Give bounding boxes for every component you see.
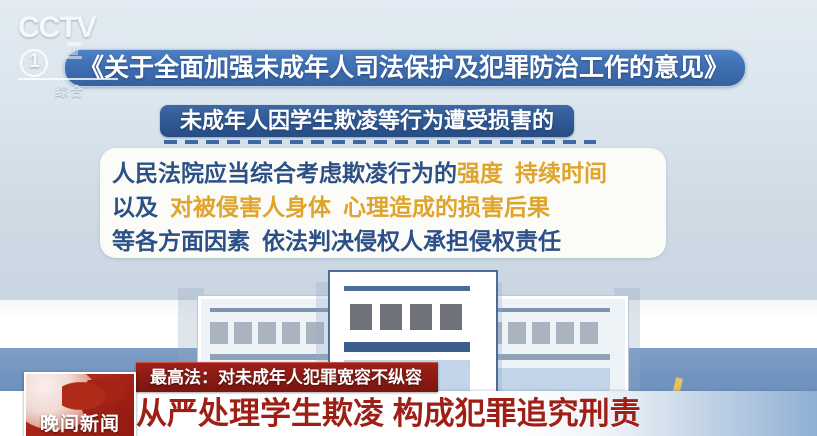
subtitle-dashed-underline	[164, 140, 596, 144]
kicker-text: 最高法：对未成年人犯罪宽容不纵容	[150, 368, 422, 388]
subtitle-banner: 未成年人因学生欺凌等行为遭受损害的	[160, 105, 574, 137]
body-line-2-blue: 以及	[112, 194, 158, 220]
body-line-3: 等各方面因素依法判决侵权人承担侵权责任	[112, 224, 666, 258]
body-line-3-blue-a: 等各方面因素	[112, 228, 250, 254]
body-text-panel: 人民法院应当综合考虑欺凌行为的强度持续时间 以及对被侵害人身体心理造成的损害后果…	[100, 148, 666, 258]
cctv-logo-text: CCTV	[18, 11, 96, 44]
body-line-1: 人民法院应当综合考虑欺凌行为的强度持续时间	[112, 156, 666, 190]
body-line-3-blue-b: 依法判决侵权人承担侵权责任	[262, 228, 561, 254]
cctv-logo-rule	[18, 78, 118, 80]
body-line-2: 以及对被侵害人身体心理造成的损害后果	[112, 190, 666, 224]
program-logo-text: 晚间新闻	[26, 414, 134, 436]
program-logo: 晚间新闻	[24, 372, 136, 436]
cctv-channel-logo: CCTV1 综合	[18, 12, 122, 64]
body-line-1-gold-b: 持续时间	[515, 160, 607, 186]
body-line-2-gold-b: 心理造成的损害后果	[343, 194, 550, 220]
body-line-2-gold-a: 对被侵害人身体	[170, 194, 331, 220]
title-banner-text: 《关于全面加强未成年人司法保护及犯罪防治工作的意见》	[79, 53, 729, 83]
body-line-1-gold-a: 强度	[457, 160, 503, 186]
cctv-channel-sub: 综合	[18, 81, 122, 100]
kicker-bar: 最高法：对未成年人犯罪宽容不纵容	[136, 362, 438, 392]
title-banner: 《关于全面加强未成年人司法保护及犯罪防治工作的意见》	[64, 49, 746, 87]
broadcast-screen: CCTV1 综合 《关于全面加强未成年人司法保护及犯罪防治工作的意见》 未成年人…	[0, 0, 817, 436]
subtitle-banner-text: 未成年人因学生欺凌等行为遭受损害的	[180, 108, 554, 134]
cctv-channel-number: 1	[20, 49, 48, 77]
headline-text: 从严处理学生欺凌 构成犯罪追究刑责	[136, 395, 641, 433]
body-line-1-blue: 人民法院应当综合考虑欺凌行为的	[112, 160, 457, 186]
